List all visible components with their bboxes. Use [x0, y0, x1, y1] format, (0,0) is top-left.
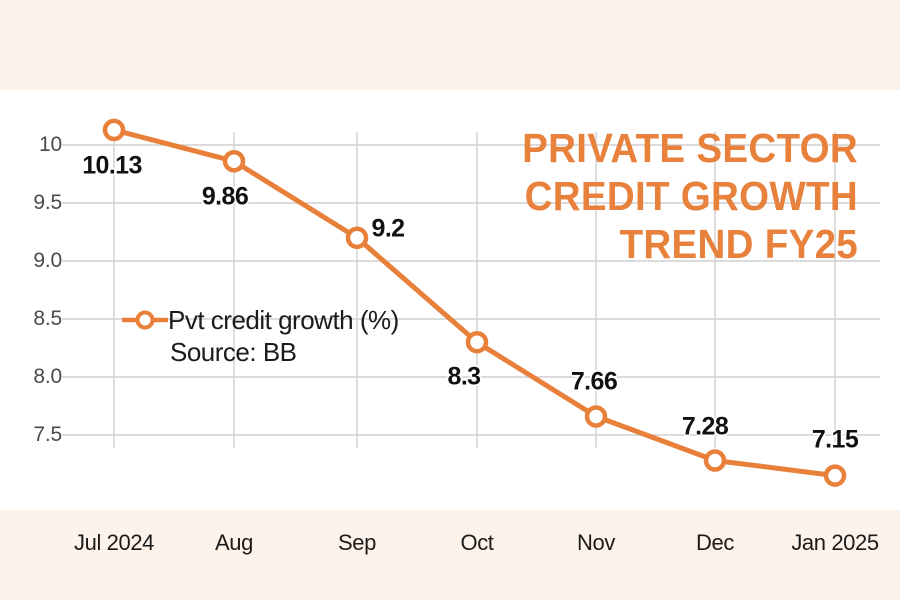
data-point-marker [587, 407, 605, 425]
data-point-marker [826, 467, 844, 485]
data-point-value-label: 7.15 [812, 425, 858, 454]
infographic-canvas: 109.59.08.58.07.5 Jul 2024AugSepOctNovDe… [0, 0, 900, 600]
data-point-value-label: 7.28 [682, 412, 728, 441]
legend-source-text: Source: BB [170, 337, 452, 368]
x-axis-tick-label: Jul 2024 [74, 530, 154, 556]
x-axis-tick-label: Aug [215, 530, 253, 556]
chart-title: PRIVATE SECTOR CREDIT GROWTH TREND FY25 [438, 124, 858, 268]
data-point-marker [468, 333, 486, 351]
data-point-value-label: 9.2 [372, 214, 405, 243]
legend-series-label: Pvt credit growth (%) [168, 305, 399, 336]
data-point-value-label: 10.13 [82, 151, 142, 180]
data-point-value-label: 8.3 [448, 363, 481, 392]
y-axis-tick-label: 8.5 [0, 307, 62, 331]
title-line-3: TREND FY25 [463, 220, 858, 268]
x-axis-tick-label: Oct [460, 530, 493, 556]
x-axis-tick-label: Jan 2025 [791, 530, 878, 556]
data-point-marker [348, 229, 366, 247]
legend-entry: Pvt credit growth (%) [122, 305, 452, 335]
title-line-2: CREDIT GROWTH [463, 172, 858, 220]
data-point-value-label: 9.86 [202, 183, 248, 212]
y-axis-tick-label: 7.5 [0, 423, 62, 447]
chart-legend: Pvt credit growth (%) Source: BB [122, 305, 452, 368]
title-line-1: PRIVATE SECTOR [463, 124, 858, 172]
x-axis-tick-label: Sep [338, 530, 376, 556]
x-axis-tick-label: Nov [577, 530, 615, 556]
data-point-marker [105, 121, 123, 139]
data-point-marker [706, 452, 724, 470]
data-point-value-label: 7.66 [571, 368, 617, 397]
legend-marker-icon [122, 309, 168, 331]
y-axis-tick-label: 9.0 [0, 249, 62, 273]
y-axis-tick-label: 10 [0, 133, 62, 157]
y-axis-tick-label: 8.0 [0, 365, 62, 389]
top-band [0, 0, 900, 90]
y-axis-tick-label: 9.5 [0, 191, 62, 215]
x-axis-tick-label: Dec [696, 530, 734, 556]
data-point-marker [225, 152, 243, 170]
